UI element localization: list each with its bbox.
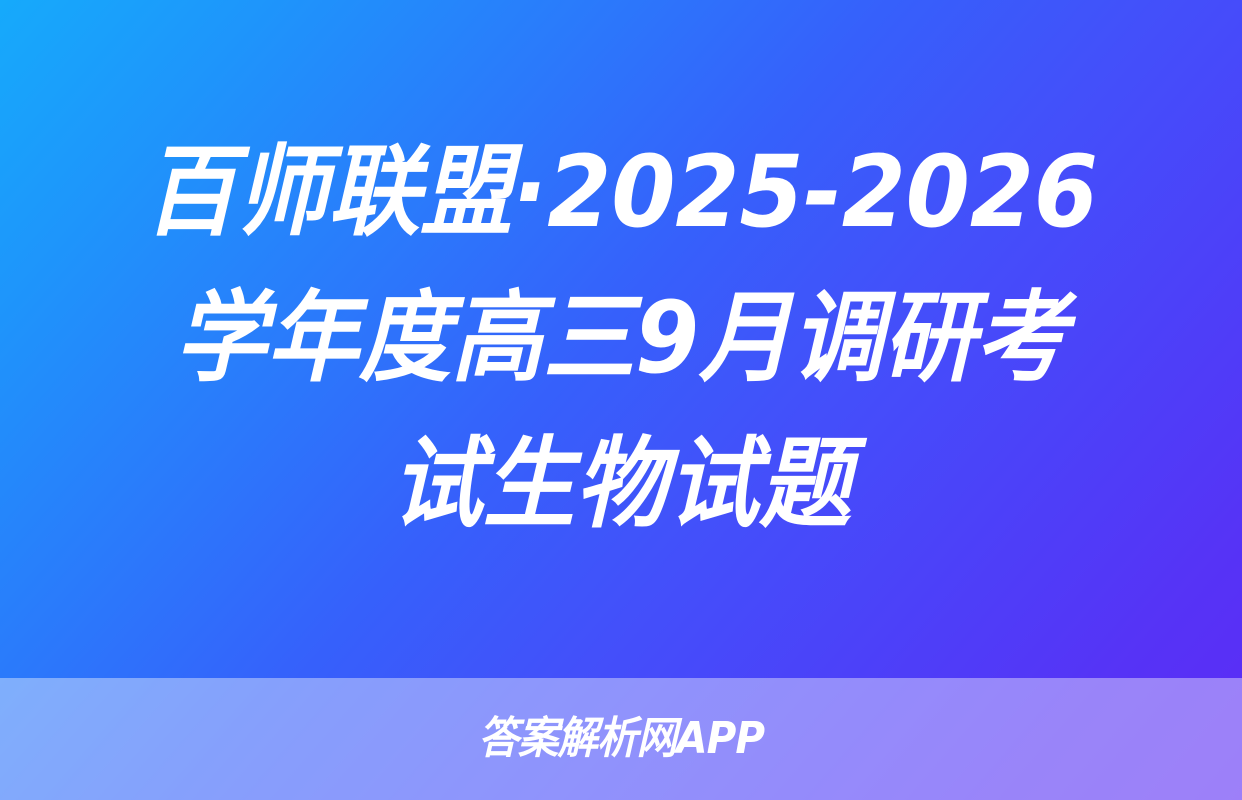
- page-title: 百师联盟·2025-2026学年度高三9月调研考试生物试题: [130, 120, 1112, 558]
- title-area: 百师联盟·2025-2026学年度高三9月调研考试生物试题: [0, 0, 1242, 678]
- footer-watermark-band: 答案解析网APP: [0, 678, 1242, 800]
- poster-canvas: 百师联盟·2025-2026学年度高三9月调研考试生物试题 答案解析网APP: [0, 0, 1242, 800]
- app-watermark-label: 答案解析网APP: [478, 717, 764, 761]
